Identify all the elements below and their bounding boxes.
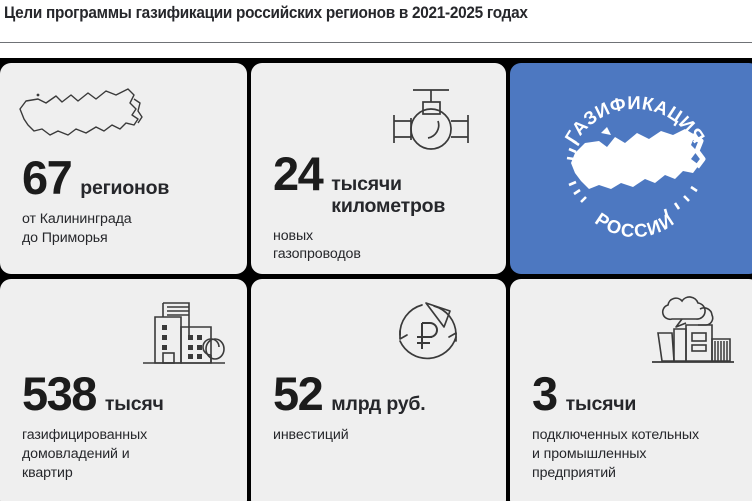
stat-card-pipelines: 24 тысячи километров новых газопроводов	[251, 63, 506, 274]
stat-unit: тысячи	[566, 394, 637, 416]
brand-logo-card: ГАЗИФИКАЦИЯ РОССИИ	[510, 63, 752, 274]
infographic-page: Цели программы газификации российских ре…	[0, 0, 752, 501]
stat-card-regions: 67 регионов от Калининграда до Приморья	[0, 63, 247, 274]
stat-unit: регионов	[80, 178, 169, 200]
svg-text:РОССИИ: РОССИИ	[592, 208, 679, 241]
stat-line: 538 тысяч	[22, 371, 235, 417]
header-divider	[0, 42, 752, 43]
stat-description: новых газопроводов	[273, 227, 494, 264]
header: Цели программы газификации российских ре…	[0, 0, 752, 58]
ruble-cycle-icon	[388, 297, 468, 374]
page-title: Цели программы газификации российских ре…	[4, 4, 528, 23]
stat-number: 52	[273, 371, 322, 417]
stat-unit: тысяч	[105, 394, 164, 416]
stat-number: 538	[22, 371, 96, 417]
stat-description: подключенных котельных и промышленных пр…	[532, 426, 748, 482]
stat-line: 52 млрд руб.	[273, 371, 494, 417]
stat-number: 24	[273, 151, 322, 197]
stat-description: от Калининграда до Приморья	[22, 210, 235, 247]
stat-description: инвестиций	[273, 426, 494, 445]
stat-line: 3 тысячи	[532, 371, 748, 417]
logo-text-bottom: РОССИИ	[592, 208, 679, 241]
stat-line: 24 тысячи километров	[273, 151, 494, 218]
gas-valve-icon	[386, 83, 476, 160]
stat-card-households: 538 тысяч газифицированных домовладений …	[0, 279, 247, 501]
stat-unit: тысячи километров	[331, 174, 445, 218]
stats-card-grid: 67 регионов от Калининграда до Приморья	[0, 58, 752, 501]
factory-icon	[642, 295, 734, 372]
stat-card-boilers: 3 тысячи подключенных котельных и промыш…	[510, 279, 752, 501]
city-buildings-icon	[133, 297, 225, 374]
gazifikaciya-rossii-logo: ГАЗИФИКАЦИЯ РОССИИ	[510, 63, 752, 274]
stat-line: 67 регионов	[22, 155, 235, 201]
stat-card-investment: 52 млрд руб. инвестиций	[251, 279, 506, 501]
russia-map-outline-icon	[16, 79, 146, 154]
stat-number: 67	[22, 155, 71, 201]
stat-description: газифицированных домовладений и квартир	[22, 426, 235, 482]
stat-unit: млрд руб.	[331, 394, 425, 416]
stat-number: 3	[532, 371, 557, 417]
